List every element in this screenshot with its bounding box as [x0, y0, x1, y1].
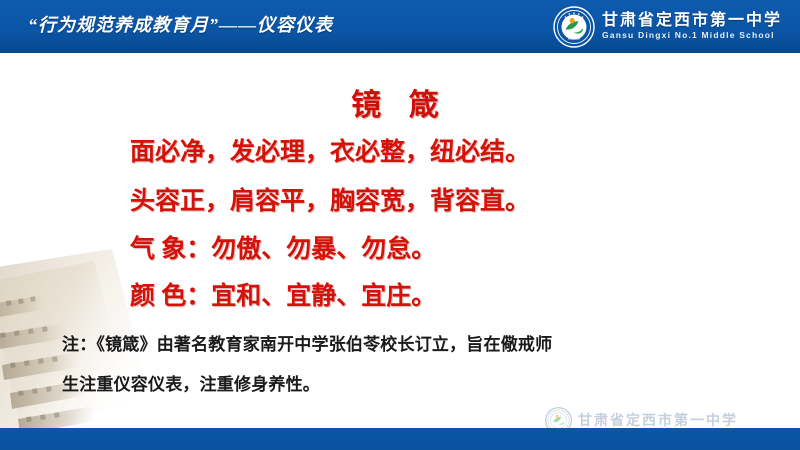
verse-line: 颜 色：宜和、宜静、宜庄。	[130, 276, 436, 312]
page-title: 镜 箴	[0, 80, 800, 124]
footer-logo-block: 甘肃省定西市第一中学	[545, 405, 738, 428]
presentation-slide: “行为规范养成教育月”——仪容仪表	[0, 0, 800, 450]
school-name-block: 甘肃省定西市第一中学 Gansu Dingxi No.1 Middle Scho…	[602, 13, 782, 41]
footer-bar	[0, 428, 800, 450]
school-name-en: Gansu Dingxi No.1 Middle School	[602, 31, 782, 40]
verse-line: 气 象：勿傲、勿暴、勿怠。	[130, 229, 436, 265]
verse-line: 面必净，发必理，衣必整，纽必结。	[130, 132, 530, 168]
note-line: 生注重仪容仪表，注重修身养性。	[62, 370, 320, 395]
header-logo-block: 甘肃省定西市第一中学 Gansu Dingxi No.1 Middle Scho…	[553, 4, 782, 49]
verse-line: 头容正，肩容平，胸容宽，背容直。	[130, 181, 530, 217]
school-emblem-icon	[545, 407, 572, 429]
header-title: “行为规范养成教育月”——仪容仪表	[28, 11, 333, 37]
note-line: 注：《镜箴》由著名教育家南开中学张伯苓校长订立，旨在儆戒师	[62, 330, 552, 355]
slide-body: 镜 箴 面必净，发必理，衣必整，纽必结。 头容正，肩容平，胸容宽，背容直。 气 …	[0, 53, 800, 428]
school-name-cn: 甘肃省定西市第一中学	[602, 13, 782, 30]
header-bar: “行为规范养成教育月”——仪容仪表	[0, 0, 800, 53]
school-emblem-icon	[553, 6, 595, 48]
footer-school-name-cn: 甘肃省定西市第一中学	[578, 410, 738, 428]
